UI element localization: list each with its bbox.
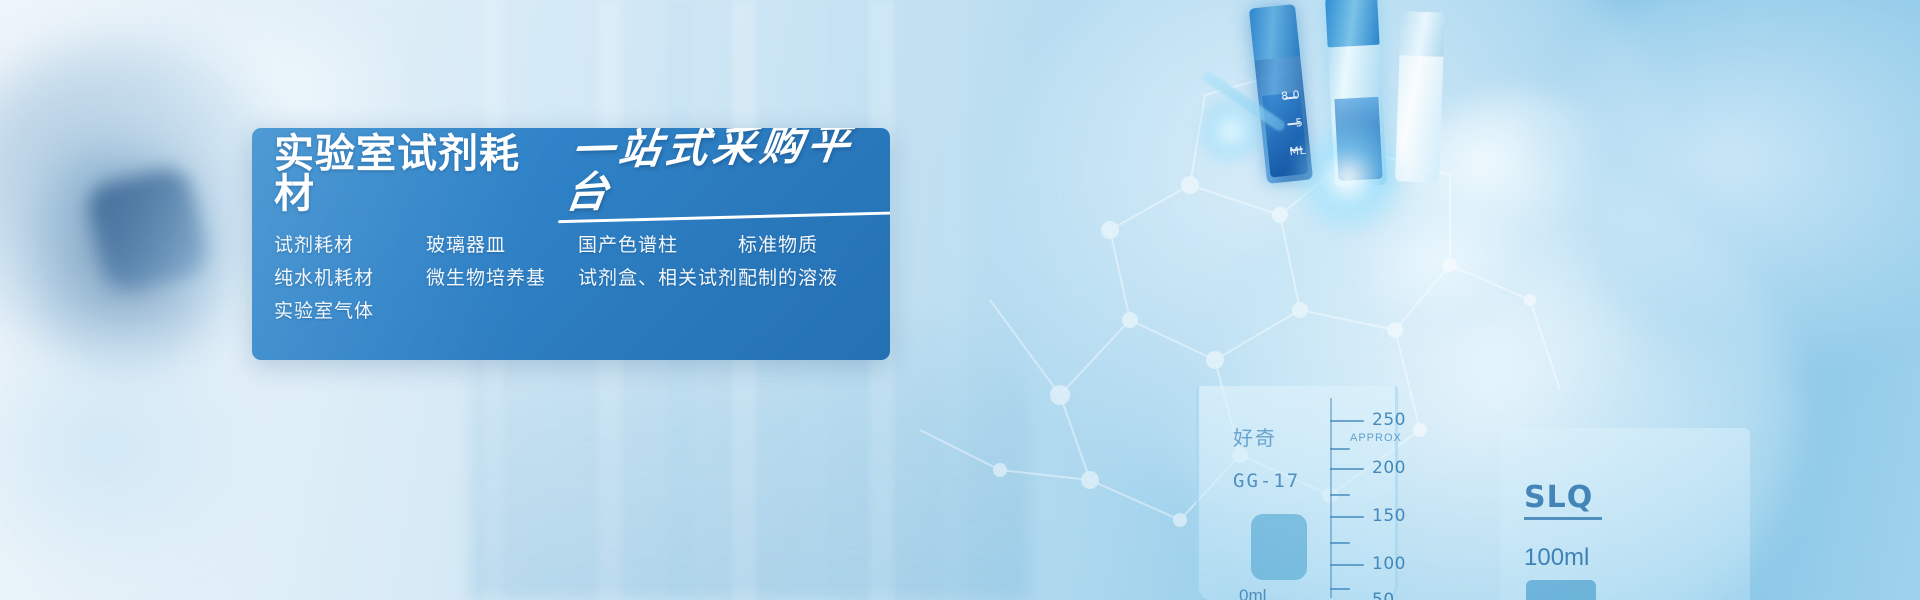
category-row: 试剂耗材 玻璃器皿 国产色谱柱 标准物质 xyxy=(274,236,890,255)
category-item-reagent-consumables[interactable]: 试剂耗材 xyxy=(274,236,426,255)
headline-main-text: 实验室试剂耗材 xyxy=(274,134,551,214)
category-item-laboratory-gas[interactable]: 实验室气体 xyxy=(274,302,426,321)
category-row: 纯水机耗材 微生物培养基 试剂盒、相关试剂配制的溶液 xyxy=(274,269,890,288)
reagent-bottle: SLQ 100ml xyxy=(1500,428,1750,600)
headline-script-text: 一站式采购平台 xyxy=(556,128,890,218)
category-item-microbial-culture-medium[interactable]: 微生物培养基 xyxy=(426,269,578,288)
bottle-volume-text: 100ml xyxy=(1524,544,1589,572)
light-glow-highlight xyxy=(1288,118,1408,238)
category-item-domestic-chromatography-column[interactable]: 国产色谱柱 xyxy=(578,236,738,255)
bottle-sub-mark xyxy=(1612,490,1615,504)
category-item-reagent-kit-solutions[interactable]: 试剂盒、相关试剂配制的溶液 xyxy=(578,269,838,288)
lab-coat-sleeve xyxy=(1560,0,1920,360)
beaker-brand-logo: 好奇 xyxy=(1233,422,1277,451)
bottle-brand-text: SLQ xyxy=(1524,480,1602,520)
category-row: 实验室气体 xyxy=(274,302,890,321)
graduation-50: 50 xyxy=(1372,590,1395,600)
lab-reagent-banner: 8.0 5 ML 好奇 GG-17 0ml 250 APPROX 200 150… xyxy=(0,0,1920,600)
category-item-water-purifier-consumables[interactable]: 纯水机耗材 xyxy=(274,269,426,288)
vial-mark-mid: 5 xyxy=(1295,116,1304,130)
graduation-100: 100 xyxy=(1372,554,1406,574)
background-blur-instrument xyxy=(20,150,230,380)
beaker-label-patch xyxy=(1251,514,1307,580)
graduation-250: 250 xyxy=(1372,410,1406,430)
graduation-200: 200 xyxy=(1372,458,1406,478)
graduation-approx-label: APPROX xyxy=(1350,432,1402,444)
beaker-glass-code: GG-17 xyxy=(1233,470,1300,492)
light-glow-secondary xyxy=(1196,96,1266,166)
promo-panel: 实验室试剂耗材 一站式采购平台 试剂耗材 玻璃器皿 国产色谱柱 标准物质 纯水机… xyxy=(252,128,890,360)
beaker-graduation-scale: 250 APPROX 200 150 100 50 xyxy=(1330,390,1426,600)
category-list: 试剂耗材 玻璃器皿 国产色谱柱 标准物质 纯水机耗材 微生物培养基 试剂盒、相关… xyxy=(274,236,890,321)
bottle-label-patch xyxy=(1526,580,1596,600)
graduation-150: 150 xyxy=(1372,506,1406,526)
beaker-volume-text: 0ml xyxy=(1239,586,1266,600)
category-item-reference-material[interactable]: 标准物质 xyxy=(738,236,878,255)
category-item-glassware[interactable]: 玻璃器皿 xyxy=(426,236,578,255)
banner-headline: 实验室试剂耗材 一站式采购平台 xyxy=(274,158,890,214)
vial-mark-top: 8.0 xyxy=(1281,88,1301,103)
background-blur-lens xyxy=(83,164,211,296)
background-blur-bench xyxy=(0,330,270,590)
